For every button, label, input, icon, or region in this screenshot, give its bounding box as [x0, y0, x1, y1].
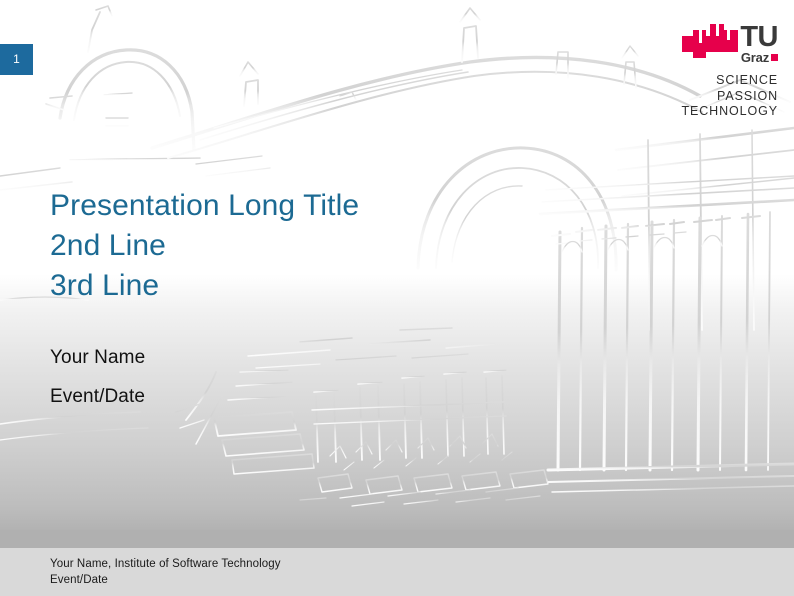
tu-graz-logo-mark [682, 24, 738, 64]
presentation-title-slide: 1 TU Graz [0, 0, 794, 596]
footer-event-date: Event/Date [50, 572, 281, 588]
subtitle-event-date: Event/Date [50, 377, 510, 416]
logo-primary-text: TU [740, 24, 778, 50]
page-number-badge: 1 [0, 44, 33, 75]
footer-text: Your Name, Institute of Software Technol… [50, 556, 281, 588]
title-line: Presentation Long Title [50, 186, 610, 226]
slide-footer: Your Name, Institute of Software Technol… [0, 548, 794, 596]
logo-mark-row: TU Graz [658, 18, 778, 64]
tu-graz-logo: TU Graz SCIENCE PASSION TECHNOLOGY [658, 18, 778, 120]
subtitle-author: Your Name [50, 338, 510, 377]
title-line: 3rd Line [50, 266, 610, 306]
tagline-line: TECHNOLOGY [658, 104, 778, 120]
footer-author-institute: Your Name, Institute of Software Technol… [50, 556, 281, 572]
logo-wordmark: TU Graz [740, 24, 778, 64]
footer-divider [0, 530, 794, 548]
page-title: Presentation Long Title 2nd Line 3rd Lin… [50, 186, 610, 306]
logo-square-icon [771, 54, 778, 61]
title-line: 2nd Line [50, 226, 610, 266]
logo-tagline: SCIENCE PASSION TECHNOLOGY [658, 73, 778, 120]
tagline-line: PASSION [658, 89, 778, 105]
subtitle: Your Name Event/Date [50, 338, 510, 416]
tagline-line: SCIENCE [658, 73, 778, 89]
logo-secondary-text: Graz [741, 51, 769, 64]
